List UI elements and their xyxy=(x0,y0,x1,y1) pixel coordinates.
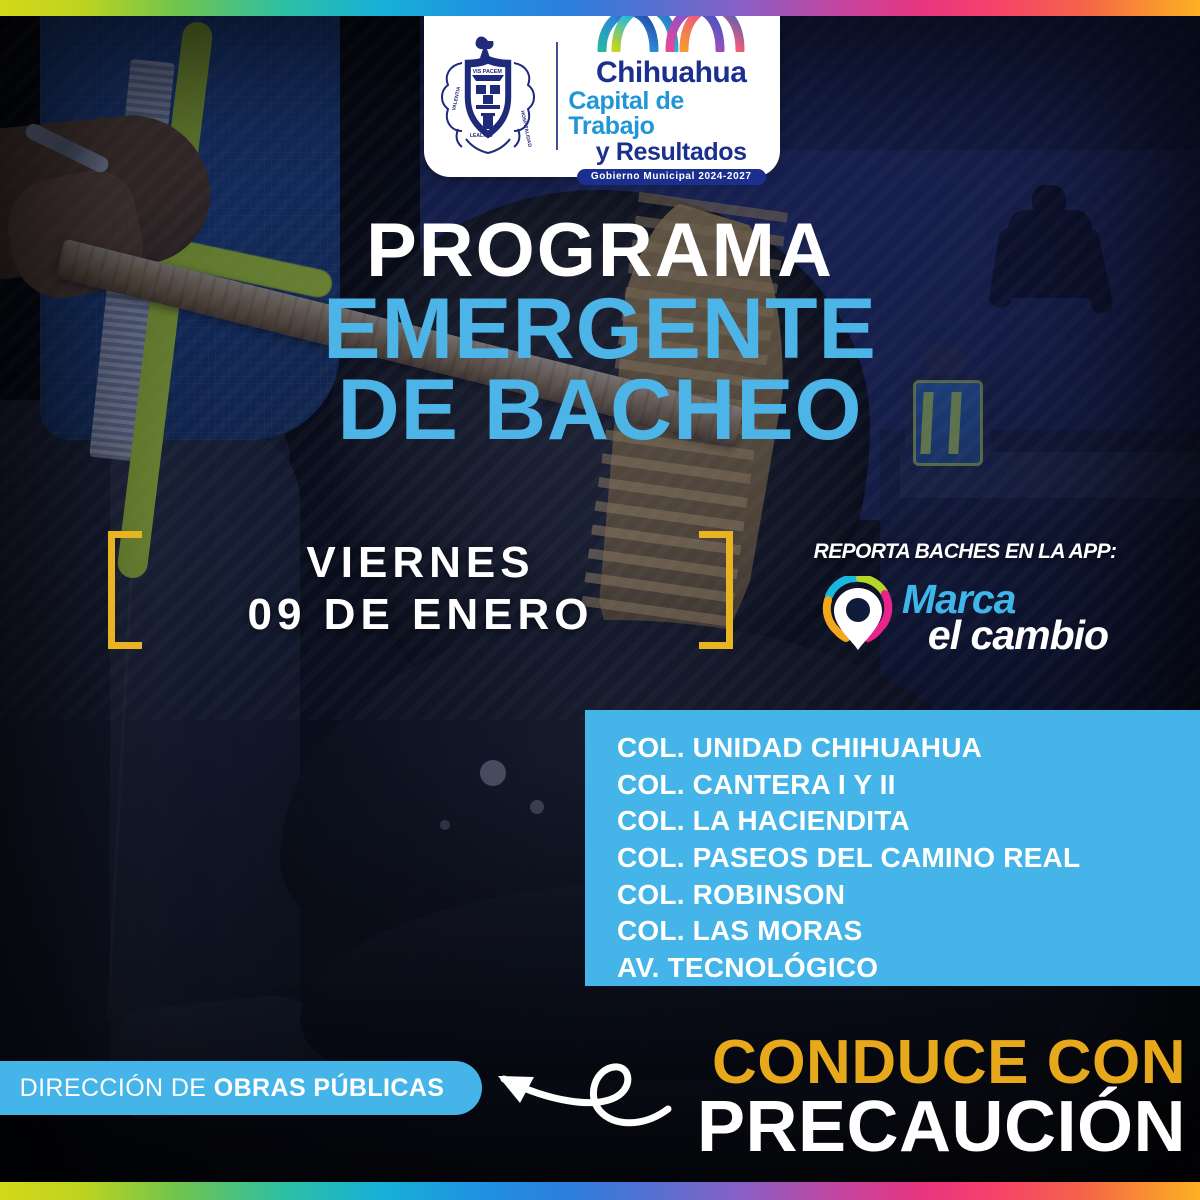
poster-canvas: SI VIS PACEM VALENTIA HOSPITALIDAD LEALT… xyxy=(0,0,1200,1200)
logo-divider xyxy=(556,42,558,150)
list-item: COL. ROBINSON xyxy=(617,877,1200,914)
curved-looping-arrow-icon xyxy=(468,1035,678,1140)
app-promo-block: REPORTA BACHES EN LA APP: Marca el cambi… xyxy=(800,540,1130,659)
list-item: COL. CANTERA I Y II xyxy=(617,767,1200,804)
svg-text:LEALTAD: LEALTAD xyxy=(470,133,493,139)
government-logo-badge: SI VIS PACEM VALENTIA HOSPITALIDAD LEALT… xyxy=(424,14,780,177)
brand-tagline-2: y Resultados xyxy=(596,140,747,165)
list-item: COL. LAS MORAS xyxy=(617,913,1200,950)
app-name-line-2: el cambio xyxy=(928,618,1108,653)
brand-name: Chihuahua xyxy=(596,58,747,88)
safety-warning-line-2: PRECAUCIÓN xyxy=(697,1095,1186,1160)
safety-warning-block: CONDUCE CON PRECAUCIÓN xyxy=(697,1035,1186,1160)
coat-of-arms-shield-icon: SI VIS PACEM VALENTIA HOSPITALIDAD LEALT… xyxy=(424,33,552,159)
app-name-cambio: cambio xyxy=(971,612,1109,658)
headline-line-3: DE BACHEO xyxy=(0,371,1200,450)
list-item: COL. PASEOS DEL CAMINO REAL xyxy=(617,840,1200,877)
department-label-light: DIRECCIÓN DE xyxy=(20,1074,214,1102)
headline-block: PROGRAMA EMERGENTE DE BACHEO xyxy=(0,216,1200,450)
department-banner: DIRECCIÓN DE OBRAS PÚBLICAS xyxy=(0,1061,482,1115)
date-weekday: VIERNES xyxy=(168,537,673,589)
headline-line-1: PROGRAMA xyxy=(0,216,1200,286)
svg-text:SI VIS PACEM: SI VIS PACEM xyxy=(466,69,502,75)
location-pin-icon xyxy=(822,576,894,659)
headline-line-2: EMERGENTE xyxy=(0,290,1200,369)
list-item: COL. UNIDAD CHIHUAHUA xyxy=(617,730,1200,767)
app-promo-label: REPORTA BACHES EN LA APP: xyxy=(800,540,1130,564)
brand-tagline-1: Capital de Trabajo xyxy=(568,89,774,139)
brand-term-ribbon: Gobierno Municipal 2024-2027 xyxy=(577,169,766,185)
bracket-right-icon xyxy=(699,531,733,649)
department-label-bold: OBRAS PÚBLICAS xyxy=(214,1074,445,1102)
svg-text:VALENTIA: VALENTIA xyxy=(451,85,462,111)
date-text: VIERNES 09 DE ENERO xyxy=(168,537,673,641)
marca-el-cambio-logo[interactable]: Marca el cambio xyxy=(800,576,1130,659)
list-item: AV. TECNOLÓGICO xyxy=(617,950,1200,987)
department-label: DIRECCIÓN DE OBRAS PÚBLICAS xyxy=(20,1074,445,1103)
bracket-left-icon xyxy=(108,531,142,649)
safety-warning-line-1: CONDUCE CON xyxy=(697,1035,1186,1091)
date-full: 09 DE ENERO xyxy=(168,589,673,641)
colonias-list-panel: COL. UNIDAD CHIHUAHUA COL. CANTERA I Y I… xyxy=(585,710,1200,986)
rainbow-bar-bottom xyxy=(0,1182,1200,1200)
marca-el-cambio-wordmark: Marca el cambio xyxy=(902,582,1108,653)
rainbow-bar-top xyxy=(0,0,1200,16)
list-item: COL. LA HACIENDITA xyxy=(617,803,1200,840)
date-block: VIERNES 09 DE ENERO xyxy=(108,525,733,655)
app-name-el: el xyxy=(928,612,971,658)
chihuahua-brand-lockup: Chihuahua Capital de Trabajo y Resultado… xyxy=(568,6,780,185)
